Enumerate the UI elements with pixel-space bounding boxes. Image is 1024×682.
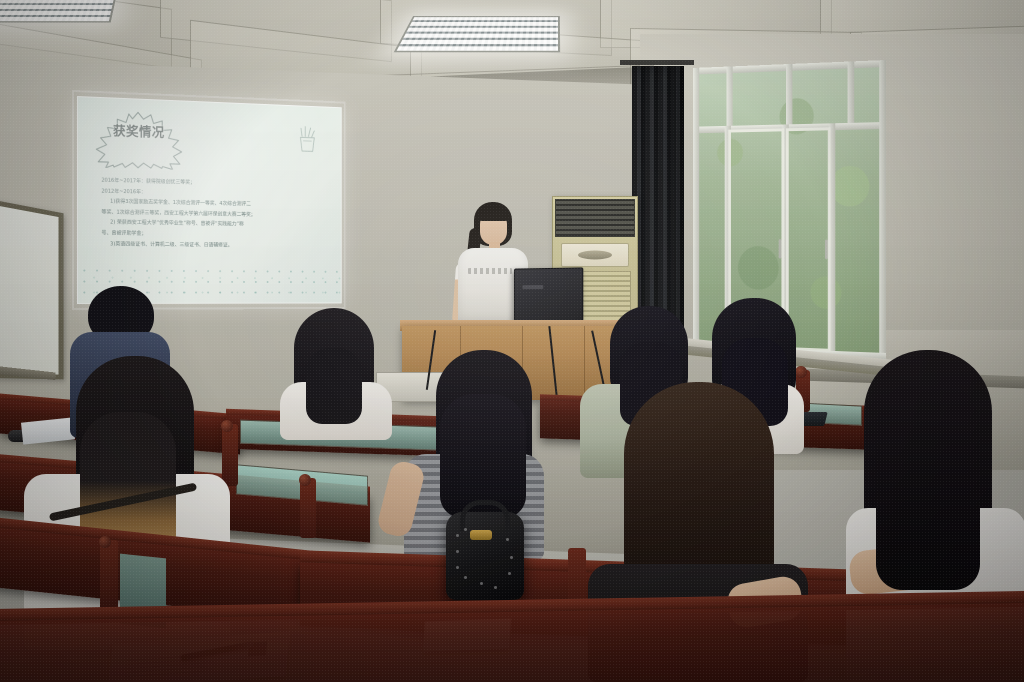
- pen-cup-sketch-icon: [297, 123, 318, 154]
- ceiling-light-left: [0, 0, 117, 23]
- handbag-handle: [460, 500, 510, 531]
- window-handle[interactable]: [779, 239, 782, 258]
- attendee-white-top-2: [280, 308, 392, 440]
- chair-back-post: [100, 540, 118, 612]
- ac-brand-logo: [578, 251, 612, 260]
- projection-screen: 获奖情况 2016年~2017年：获得院级创优三等奖； 2012年~2016年：…: [77, 96, 342, 304]
- chair-knob: [99, 536, 111, 548]
- handbag-clasp: [470, 530, 492, 540]
- ac-top-grill: [555, 199, 635, 237]
- slide-title: 获奖情况: [99, 125, 177, 141]
- chair-back-post: [300, 478, 316, 538]
- curtain-rod: [620, 60, 694, 65]
- ac-control-panel[interactable]: [561, 243, 629, 267]
- chair-knob: [299, 474, 311, 486]
- classroom-photo: 获奖情况 2016年~2017年：获得院级创优三等奖； 2012年~2016年：…: [0, 0, 1024, 682]
- light-louver-cross: [0, 0, 115, 21]
- window-handle[interactable]: [825, 239, 828, 259]
- light-louver-cross: [397, 17, 558, 51]
- attendee-hair-front: [876, 380, 980, 590]
- whiteboard: [0, 200, 64, 379]
- presentation-slide: 获奖情况 2016年~2017年：获得院级创优三等奖； 2012年~2016年：…: [77, 96, 342, 304]
- slide-body-text: 2016年~2017年：获得院级创优三等奖； 2012年~2016年： 1)获得…: [101, 176, 328, 252]
- handbag[interactable]: [446, 512, 524, 600]
- presenter-shirt-print: [468, 268, 512, 274]
- slide-line: 3)英语四级证书、计算机二级、三级证书、日语辅修证。: [101, 239, 328, 252]
- ceiling-light-main: [394, 16, 560, 52]
- monitor-badge: [522, 285, 543, 289]
- presenter-fringe: [478, 208, 509, 221]
